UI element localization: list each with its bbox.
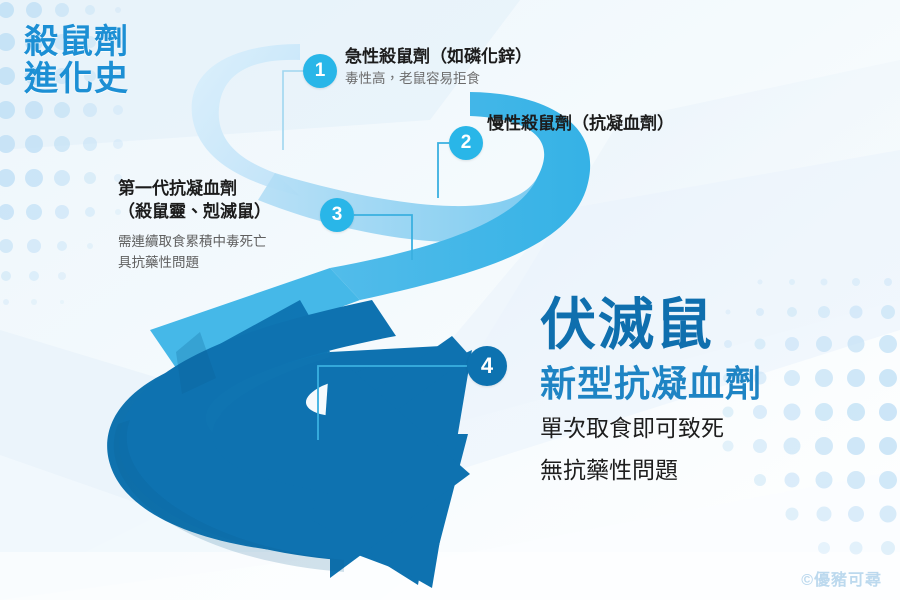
step-2-heading: 慢性殺鼠劑（抗凝血劑） (487, 113, 674, 136)
step-3-text-block: 第一代抗凝血劑 （殺鼠靈、剋滅鼠） 需連續取食累積中毒死亡 具抗藥性問題 (118, 178, 271, 274)
step-3-subtitle-1: 需連續取食累積中毒死亡 (118, 232, 271, 253)
step-badge-4[interactable]: 4 (467, 346, 507, 386)
infographic-canvas: 殺鼠劑 進化史 1 2 3 4 急性殺鼠劑（如磷化鋅） 毒性高，老鼠容易拒食 慢… (0, 0, 900, 600)
product-name: 伏滅鼠 (540, 296, 762, 355)
step-3-heading-line-1: 第一代抗凝血劑 (118, 178, 271, 201)
title-line-1: 殺鼠劑 (24, 24, 129, 61)
page-title: 殺鼠劑 進化史 (24, 24, 129, 97)
step-3-heading-line-2: （殺鼠靈、剋滅鼠） (118, 201, 271, 224)
connector-lines (0, 0, 900, 600)
product-benefit-2: 無抗藥性問題 (540, 452, 762, 490)
step-badge-1[interactable]: 1 (303, 54, 337, 88)
title-line-2: 進化史 (24, 61, 129, 98)
step-3-subtitle-2: 具抗藥性問題 (118, 253, 271, 274)
step-2-text-block: 慢性殺鼠劑（抗凝血劑） (487, 113, 674, 136)
product-category: 新型抗凝血劑 (540, 361, 762, 406)
step-4-text-block: 伏滅鼠 新型抗凝血劑 單次取食即可致死 無抗藥性問題 (540, 296, 762, 490)
step-badge-2[interactable]: 2 (449, 126, 483, 160)
step-1-heading: 急性殺鼠劑（如磷化鋅） (345, 46, 532, 69)
copyright-watermark: ©優豬可尋 (801, 566, 882, 590)
product-benefit-1: 單次取食即可致死 (540, 410, 762, 448)
step-1-text-block: 急性殺鼠劑（如磷化鋅） 毒性高，老鼠容易拒食 (345, 46, 532, 90)
step-1-subtitle: 毒性高，老鼠容易拒食 (345, 69, 532, 90)
step-badge-3[interactable]: 3 (320, 198, 354, 232)
